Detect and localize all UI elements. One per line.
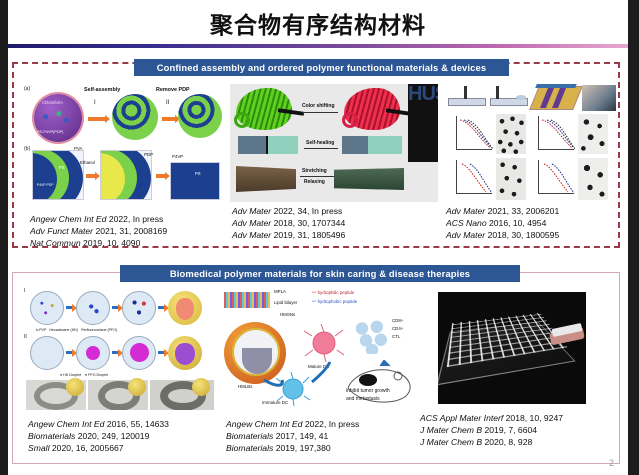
page-title: 聚合物有序结构材料 <box>8 6 628 40</box>
citation-entry: Biomaterials 2017, 149, 41 <box>226 430 359 442</box>
citation-entry: ACS Appl Mater Interf 2018, 10, 9247 <box>420 412 563 424</box>
citation-entry: Nat Commun 2019, 10, 4090 <box>30 237 167 249</box>
figure-label-a: (a) <box>24 86 30 92</box>
citation-entry: Adv Mater 2019, 31, 1805496 <box>232 229 345 241</box>
citations-confined-right: Adv Mater 2021, 33, 2006201 ACS Nano 201… <box>446 205 559 242</box>
citation-entry: Biomaterials 2019, 197,380 <box>226 442 359 454</box>
citation-entry: Adv Mater 2018, 30, 1707344 <box>232 217 345 229</box>
label-self-healing: Self-healing <box>306 140 334 146</box>
label-color-shifting: Color shifting <box>302 103 335 109</box>
citation-entry: Adv Funct Mater 2021, 31, 2008169 <box>30 225 167 237</box>
citations-confined-middle: Adv Mater 2022, 34, In press Adv Mater 2… <box>232 205 345 242</box>
citation-entry: Angew Chem Int Ed 2016, 55, 14633 <box>28 418 169 430</box>
slide-canvas: 聚合物有序结构材料 Confined assembly and ordered … <box>8 0 628 475</box>
figure-hmlb-immune-schematic: MPLA Lipid bilayer HMSNs 〰 hydrophilic p… <box>220 288 432 410</box>
citation-entry: Adv Mater 2018, 30, 1800595 <box>446 229 559 241</box>
citation-entry: Adv Mater 2021, 33, 2006201 <box>446 205 559 217</box>
section-band-biomedical: Biomedical polymer materials for skin ca… <box>120 265 520 282</box>
figure-chameleon-color-shifting: Color shifting Self-healing Stretching R… <box>230 84 438 202</box>
figure-label-I: I <box>24 288 25 294</box>
citation-entry: J Mater Chem B 2020, 8, 928 <box>420 436 563 448</box>
figure-device-transfer-curves <box>444 84 616 202</box>
citation-entry: Angew Chem Int Ed 2022, In press <box>226 418 359 430</box>
figure-label-II: II <box>24 334 27 340</box>
citation-entry: Angew Chem Int Ed 2022, In press <box>30 213 167 225</box>
citations-biomedical-left: Angew Chem Int Ed 2016, 55, 14633 Biomat… <box>28 418 169 455</box>
section-band-confined-assembly: Confined assembly and ordered polymer fu… <box>134 59 509 76</box>
slide-title-bar: 聚合物有序结构材料 <box>8 0 628 47</box>
label-hust: HUST <box>408 84 438 162</box>
citation-entry: Small 2020, 16, 2005667 <box>28 442 169 454</box>
page-number: 2 <box>609 458 614 468</box>
citation-entry: Adv Mater 2022, 34, In press <box>232 205 345 217</box>
label-stretching: Stretching <box>302 168 327 174</box>
figure-multicompartment-capsules: I b-PVP Hexadecane (HD) Perfluorooctane … <box>22 288 218 410</box>
citations-biomedical-middle: Angew Chem Int Ed 2022, In press Biomate… <box>226 418 359 455</box>
citation-entry: ACS Nano 2016, 10, 4954 <box>446 217 559 229</box>
citation-entry: J Mater Chem B 2019, 7, 6604 <box>420 424 563 436</box>
citations-biomedical-right: ACS Appl Mater Interf 2018, 10, 9247 J M… <box>420 412 563 449</box>
figure-ps-p4vp-assembly: (a) Chloroform PS-P4VP(PDP) PVA Self-ass… <box>22 84 222 202</box>
label-relaxing: Relaxing <box>304 179 325 185</box>
citations-confined-left: Angew Chem Int Ed 2022, In press Adv Fun… <box>30 213 167 250</box>
figure-microneedle-array-photo <box>438 292 586 404</box>
title-divider-rule <box>8 44 628 48</box>
citation-entry: Biomaterials 2020, 249, 120019 <box>28 430 169 442</box>
figure-label-b: (b) <box>24 146 30 152</box>
